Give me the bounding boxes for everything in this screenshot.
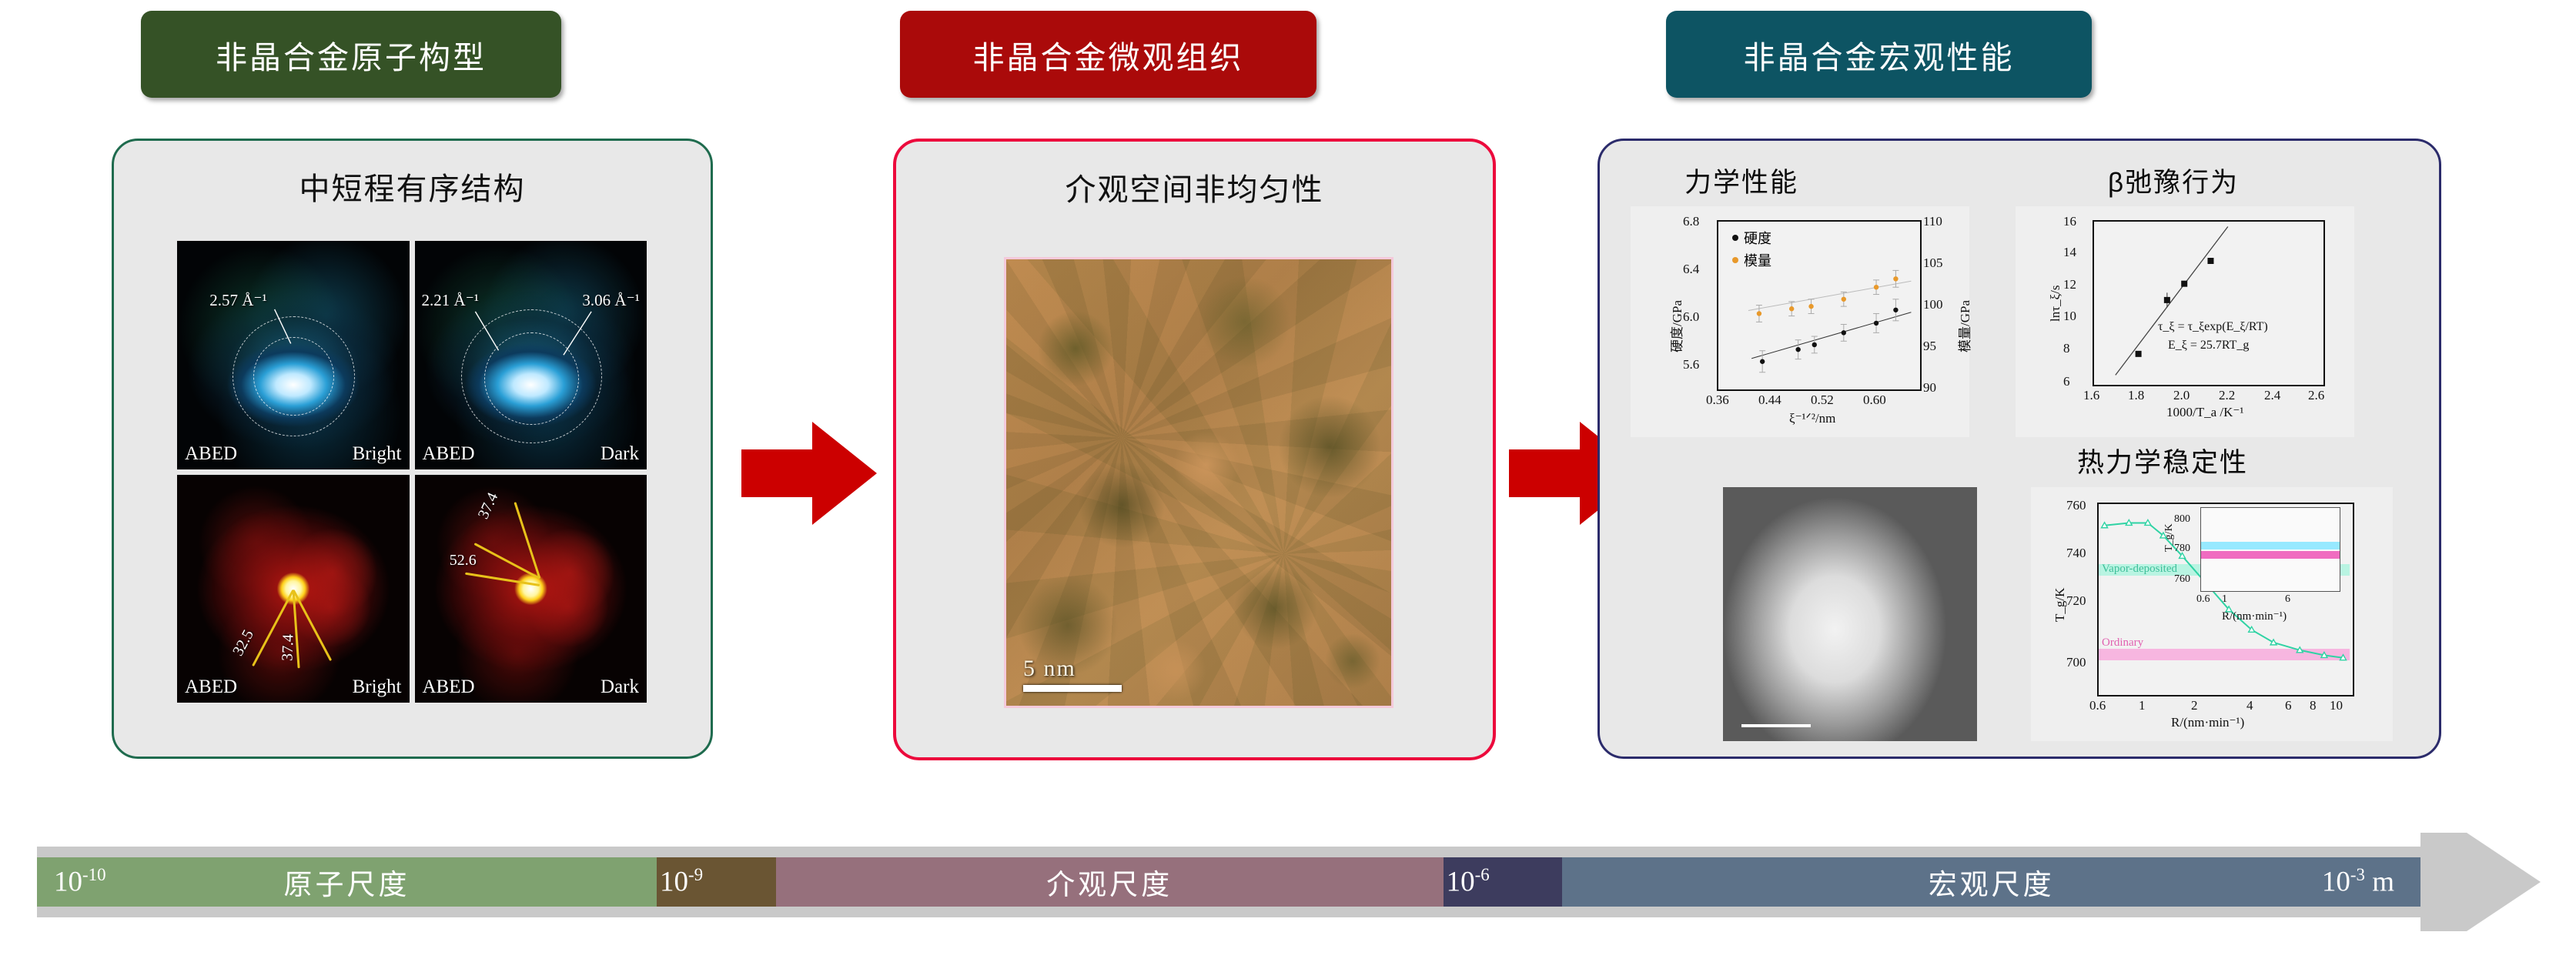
header-macro-label: 非晶合金宏观性能 [1744,32,2015,78]
y-tick: 8 [2063,341,2070,356]
mechanical-data-layer [1717,220,1919,388]
scale-arrow-head-icon [2420,833,2541,931]
inset-x-tick: 6 [2285,593,2290,606]
scale-exponent-micro: 10-6 [1444,865,1490,898]
scalebar: 5 nm [1023,656,1122,692]
inset-x-tick: 0.6 [2196,593,2210,606]
abed-contrast-tag: Dark [601,443,639,465]
scale-exponent-nano: 10-9 [657,865,703,898]
x-tick: 2.0 [2173,388,2190,403]
beta-data-layer [2093,220,2322,383]
abed-red-dark: 37.4 52.6 ABED Dark [415,475,647,703]
y-axis-label: 硬度/GPa [1666,352,1718,372]
x-tick: 2.4 [2264,388,2280,403]
scale-segment-macro: 宏观尺度 10-3 m [1562,857,2420,907]
x-tick: 2 [2191,698,2198,713]
scale-segment-atomic: 10-10 原子尺度 [37,857,657,907]
x-tick: 2.2 [2219,388,2235,403]
x-tick: 0.52 [1811,392,1834,408]
inset-y-axis-label: T_g/K [2163,552,2192,564]
y-tick: 760 [2066,498,2086,513]
y-tick: 6.0 [1683,309,1699,325]
header-micro-label: 非晶合金微观组织 [973,32,1244,78]
x-tick: 1.6 [2083,388,2099,403]
thermal-inset-plot [2200,507,2340,592]
abed-mode-tag: ABED [423,676,475,698]
inset-y-tick: 760 [2174,573,2190,586]
abed-contrast-tag: Bright [353,443,402,465]
y-tick: 12 [2063,277,2076,292]
x-tick: 0.44 [1758,392,1781,408]
x-tick: 1.8 [2128,388,2144,403]
arrow-atomic-to-micro [741,416,880,531]
y-tick: 6.8 [1683,214,1699,229]
panel-macro-properties: 力学性能 β弛豫行为 热力学稳定性 6.8 6.4 6.0 5.6 110 10… [1597,139,2441,759]
y2-tick: 100 [1923,297,1943,312]
scale-exponent-macro: 10-3 m [2305,865,2420,898]
scale-label-macro: 宏观尺度 [1562,861,2420,903]
y-axis-label: T_g/K [2052,622,2086,637]
header-atomic-configuration: 非晶合金原子构型 [141,11,561,98]
y-tick: 16 [2063,214,2076,229]
inset-x-axis-label: R/(nm·min⁻¹) [2222,609,2287,623]
scale-label-atomic: 原子尺度 [37,861,657,903]
chart-beta-relaxation: 16 14 12 10 8 6 1.6 1.8 2.0 2.2 2.4 2.6 … [2016,206,2354,437]
abed-image-grid: 2.57 Å⁻¹ ABED Bright 2.21 Å⁻¹ 3.06 Å⁻¹ A… [177,241,647,703]
scale-marker-nano: 10-9 [657,857,776,907]
y2-axis-label: 模量/GPa [1954,352,2006,372]
panel-microstructure: 介观空间非均匀性 5 nm [893,139,1496,760]
abed-mode-tag: ABED [185,676,237,698]
abed-angle-label: 37.4 [475,490,503,522]
abed-angle-label: 52.6 [450,552,477,570]
scale-exponent-atomic: 10-10 [37,865,106,898]
x-tick: 8 [2310,698,2317,713]
chart-thermal-stability: 760 740 720 700 0.6 1 2 4 6 8 10 T_g/K R… [2031,487,2393,741]
subtitle-thermal-stability: 热力学稳定性 [2077,441,2248,480]
abed-angle-label: 37.4 [279,634,297,662]
y-tick: 6 [2063,374,2070,389]
y-tick: 740 [2066,546,2086,561]
subtitle-beta-relaxation: β弛豫行为 [2108,161,2239,200]
subtitle-mechanical: 力学性能 [1684,161,1798,200]
abed-mode-tag: ABED [423,443,475,465]
panel-atomic-title: 中短程有序结构 [114,164,711,209]
y-tick: 720 [2066,593,2086,609]
inset-band-ordinary [2201,551,2340,559]
length-scale-strip: 10-10 原子尺度 10-9 介观尺度 10-6 宏观尺度 10-3 m [37,833,2541,931]
header-microstructure: 非晶合金微观组织 [900,11,1316,98]
sem-scalebar [1741,724,1811,727]
x-tick: 10 [2330,698,2343,713]
abed-mode-tag: ABED [185,443,237,465]
x-axis-label: ξ⁻¹ᐟ²/nm [1789,411,1835,426]
scalebar-label: 5 nm [1023,656,1122,682]
y-tick: 14 [2063,245,2076,260]
panel-micro-title: 介观空间非均匀性 [896,165,1493,209]
y2-tick: 105 [1923,256,1943,271]
x-tick: 4 [2246,698,2253,713]
inset-band-vapor [2201,542,2340,549]
mesoscale-heterogeneity-image: 5 nm [1004,257,1393,708]
sem-sample-image [1723,487,1977,741]
y-axis-label: lnτ_ξ/s [2048,322,2084,337]
scale-strip-body: 10-10 原子尺度 10-9 介观尺度 10-6 宏观尺度 10-3 m [37,847,2420,917]
x-tick: 6 [2285,698,2292,713]
abed-angle-label: 32.5 [229,627,258,660]
abed-blue-bright: 2.57 Å⁻¹ ABED Bright [177,241,410,469]
x-tick: 2.6 [2308,388,2324,403]
abed-blue-dark: 2.21 Å⁻¹ 3.06 Å⁻¹ ABED Dark [415,241,647,469]
y-tick: 6.4 [1683,262,1699,277]
x-axis-label: 1000/T_a /K⁻¹ [2166,405,2243,420]
scale-label-meso: 介观尺度 [776,861,1444,903]
x-tick: 0.6 [2089,698,2106,713]
y2-tick: 95 [1923,339,1936,354]
y2-tick: 90 [1923,380,1936,396]
scale-segment-meso: 介观尺度 [776,857,1444,907]
scale-marker-micro: 10-6 [1444,857,1563,907]
x-tick: 0.60 [1863,392,1886,408]
y2-tick: 110 [1923,214,1942,229]
y-tick: 700 [2066,655,2086,670]
q-pointer-icon [415,241,647,469]
panel-atomic-configuration: 中短程有序结构 2.57 Å⁻¹ ABED Bright 2.21 Å⁻¹ 3.… [112,139,713,759]
abed-contrast-tag: Bright [353,676,402,698]
header-macro-properties: 非晶合金宏观性能 [1666,11,2092,98]
x-axis-label: R/(nm·min⁻¹) [2171,715,2244,730]
inset-x-tick: 1 [2222,593,2227,606]
q-pointer-icon [177,241,410,469]
inset-y-tick: 800 [2174,513,2190,526]
x-tick: 1 [2139,698,2146,713]
abed-red-bright: 32.5 37.4 ABED Bright [177,475,410,703]
chart-mechanical: 6.8 6.4 6.0 5.6 110 105 100 95 90 0.36 0… [1631,206,1969,437]
header-atomic-label: 非晶合金原子构型 [216,32,487,78]
x-tick: 0.36 [1706,392,1729,408]
scalebar-line [1023,685,1122,692]
abed-contrast-tag: Dark [601,676,639,698]
